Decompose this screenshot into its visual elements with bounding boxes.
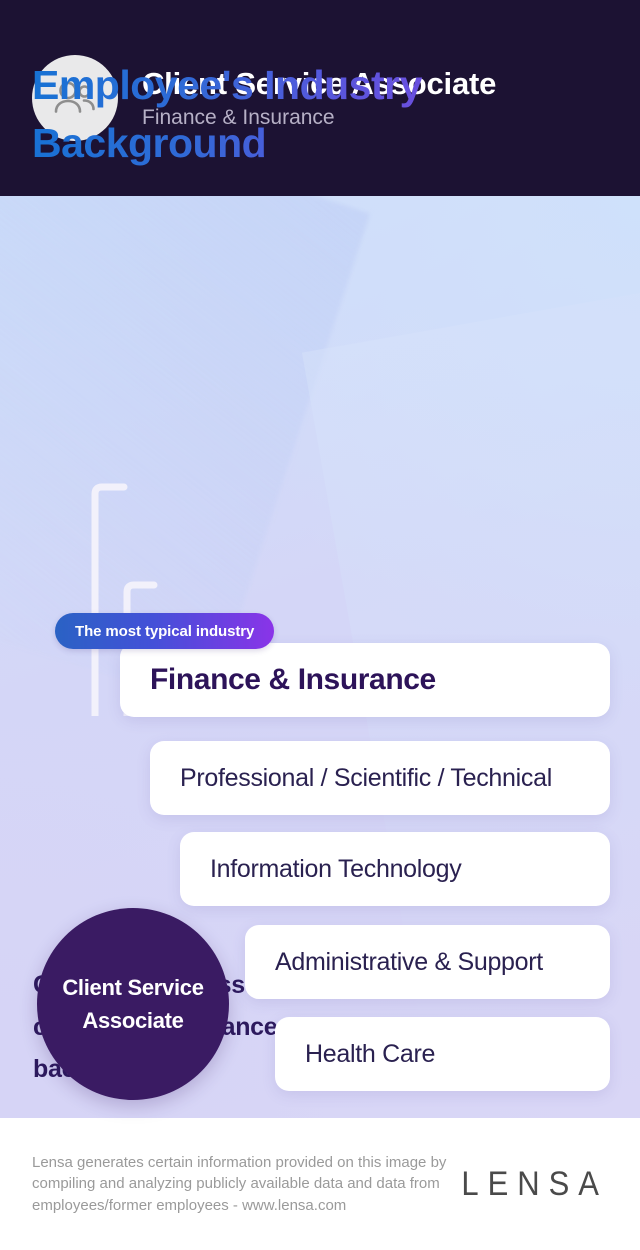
industry-card-administrative-support[interactable]: Administrative & Support [245, 925, 610, 999]
footer-bar: Lensa generates certain information prov… [0, 1118, 640, 1250]
industry-card-label: Administrative & Support [245, 948, 543, 977]
section-title: Employee's Industry Background [32, 56, 502, 172]
industry-card-information-technology[interactable]: Information Technology [180, 832, 610, 906]
center-node-client-service-associate: Client Service Associate [37, 908, 229, 1100]
industry-card-label: Finance & Insurance [120, 663, 436, 697]
industry-card-label: Health Care [275, 1040, 435, 1069]
industry-card-professional-scientific-technical[interactable]: Professional / Scientific / Technical [150, 741, 610, 815]
industry-card-label: Professional / Scientific / Technical [150, 764, 552, 793]
industry-card-health-care[interactable]: Health Care [275, 1017, 610, 1091]
badge-label: The most typical industry [75, 623, 254, 640]
most-typical-badge: The most typical industry [55, 613, 274, 649]
lensa-logo: LENSA [461, 1164, 608, 1204]
industry-card-label: Information Technology [180, 855, 461, 884]
infographic-page: Client Service Associate Finance & Insur… [0, 0, 640, 1250]
industry-card-finance-insurance[interactable]: Finance & Insurance [120, 643, 610, 717]
disclaimer-text: Lensa generates certain information prov… [32, 1152, 461, 1216]
industry-diagram: The most typical industry Finance & Insu… [0, 196, 640, 716]
center-node-label: Client Service Associate [37, 971, 229, 1037]
